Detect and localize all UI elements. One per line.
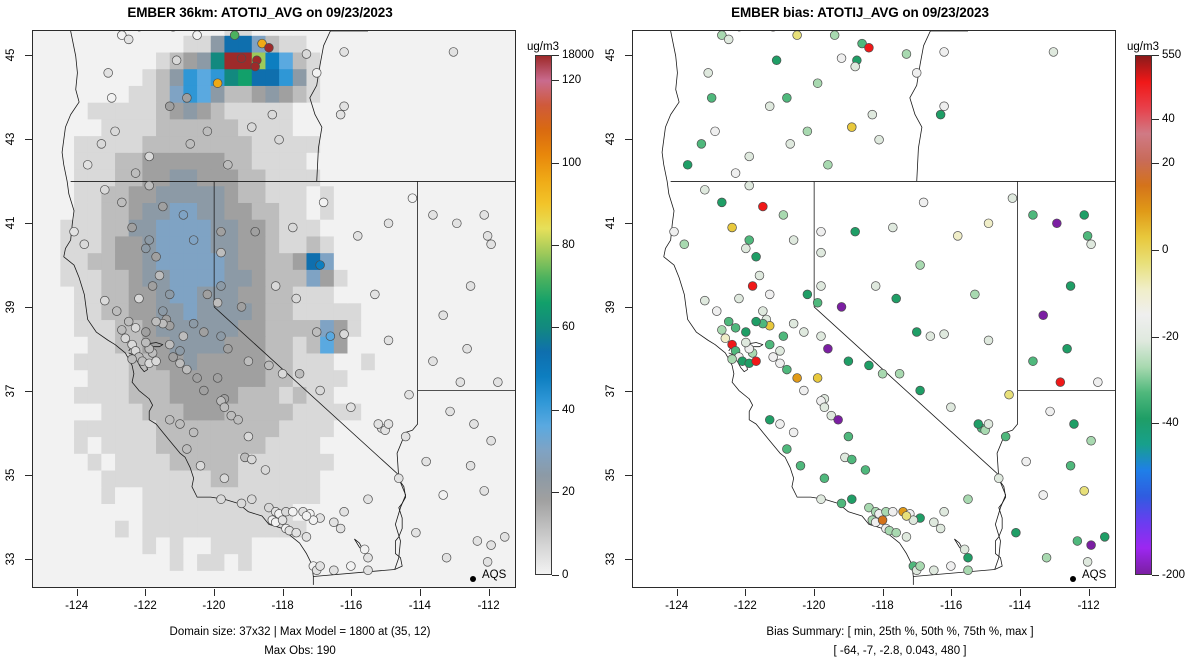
aqs-site-marker[interactable] xyxy=(295,369,304,378)
aqs-bias-marker[interactable] xyxy=(865,361,874,370)
aqs-bias-marker[interactable] xyxy=(1008,194,1017,203)
aqs-bias-marker[interactable] xyxy=(878,369,887,378)
aqs-bias-marker[interactable] xyxy=(919,198,928,207)
aqs-site-marker[interactable] xyxy=(364,553,373,562)
aqs-site-marker[interactable] xyxy=(336,524,345,533)
aqs-site-marker[interactable] xyxy=(104,68,113,77)
aqs-bias-markers[interactable] xyxy=(670,31,1109,575)
aqs-site-marker[interactable] xyxy=(80,240,89,249)
aqs-site-marker[interactable] xyxy=(152,317,161,326)
aqs-site-marker[interactable] xyxy=(463,344,472,353)
aqs-bias-marker[interactable] xyxy=(1056,378,1065,387)
right-plot-frame[interactable] xyxy=(632,30,1116,588)
aqs-bias-marker[interactable] xyxy=(960,545,969,554)
aqs-bias-marker[interactable] xyxy=(824,344,833,353)
aqs-bias-marker[interactable] xyxy=(1029,357,1038,366)
aqs-site-marker[interactable] xyxy=(237,54,246,63)
aqs-bias-marker[interactable] xyxy=(817,282,826,291)
aqs-bias-marker[interactable] xyxy=(813,298,822,307)
aqs-bias-marker[interactable] xyxy=(847,495,856,504)
aqs-bias-marker[interactable] xyxy=(1052,219,1061,228)
aqs-bias-marker[interactable] xyxy=(728,355,737,364)
aqs-bias-marker[interactable] xyxy=(861,466,870,475)
aqs-bias-marker[interactable] xyxy=(817,332,826,341)
left-plot-frame[interactable] xyxy=(32,30,516,588)
aqs-site-marker[interactable] xyxy=(186,140,195,149)
aqs-bias-marker[interactable] xyxy=(741,328,750,337)
aqs-bias-marker[interactable] xyxy=(1001,432,1010,441)
aqs-site-marker[interactable] xyxy=(217,227,226,236)
aqs-site-marker[interactable] xyxy=(340,330,349,339)
aqs-site-marker[interactable] xyxy=(412,528,421,537)
aqs-site-marker[interactable] xyxy=(193,31,202,40)
aqs-bias-marker[interactable] xyxy=(1080,486,1089,495)
aqs-site-marker[interactable] xyxy=(473,537,482,546)
aqs-bias-marker[interactable] xyxy=(820,403,829,412)
aqs-bias-marker[interactable] xyxy=(813,374,822,383)
aqs-bias-marker[interactable] xyxy=(834,415,843,424)
aqs-site-marker[interactable] xyxy=(148,282,157,291)
aqs-site-marker[interactable] xyxy=(189,319,198,328)
aqs-site-marker[interactable] xyxy=(224,160,233,169)
aqs-site-marker[interactable] xyxy=(165,290,174,299)
aqs-bias-marker[interactable] xyxy=(895,369,904,378)
aqs-bias-marker[interactable] xyxy=(772,56,781,65)
aqs-bias-marker[interactable] xyxy=(892,528,901,537)
aqs-bias-marker[interactable] xyxy=(796,461,805,470)
aqs-site-marker[interactable] xyxy=(182,93,191,102)
aqs-bias-marker[interactable] xyxy=(707,93,716,102)
aqs-site-marker[interactable] xyxy=(117,326,126,335)
aqs-site-marker[interactable] xyxy=(316,386,325,395)
aqs-site-marker[interactable] xyxy=(169,353,178,362)
aqs-bias-marker[interactable] xyxy=(984,219,993,228)
aqs-bias-marker[interactable] xyxy=(1093,378,1102,387)
aqs-bias-marker[interactable] xyxy=(800,386,809,395)
aqs-site-marker[interactable] xyxy=(384,219,393,228)
aqs-site-marker[interactable] xyxy=(131,169,140,178)
aqs-bias-marker[interactable] xyxy=(964,495,973,504)
aqs-site-marker[interactable] xyxy=(449,48,458,57)
aqs-site-marker[interactable] xyxy=(247,123,256,132)
aqs-bias-marker[interactable] xyxy=(758,307,767,316)
aqs-bias-marker[interactable] xyxy=(837,54,846,63)
aqs-site-marker[interactable] xyxy=(152,252,161,261)
aqs-bias-marker[interactable] xyxy=(940,102,949,111)
aqs-bias-marker[interactable] xyxy=(1029,211,1038,220)
aqs-bias-marker[interactable] xyxy=(755,271,764,280)
aqs-bias-marker[interactable] xyxy=(916,261,925,270)
aqs-site-marker[interactable] xyxy=(200,328,209,337)
aqs-site-marker[interactable] xyxy=(135,294,144,303)
aqs-site-marker[interactable] xyxy=(145,181,154,190)
aqs-site-marker[interactable] xyxy=(374,420,383,429)
aqs-bias-marker[interactable] xyxy=(912,328,921,337)
aqs-bias-marker[interactable] xyxy=(868,110,877,119)
aqs-bias-marker[interactable] xyxy=(721,334,730,343)
aqs-bias-marker[interactable] xyxy=(711,127,720,136)
aqs-site-marker[interactable] xyxy=(165,340,174,349)
aqs-bias-marker[interactable] xyxy=(697,140,706,149)
aqs-bias-marker[interactable] xyxy=(964,553,973,562)
aqs-bias-marker[interactable] xyxy=(820,474,829,483)
aqs-site-marker[interactable] xyxy=(384,420,393,429)
aqs-site-marker[interactable] xyxy=(271,282,280,291)
aqs-site-marker[interactable] xyxy=(172,56,181,65)
aqs-site-marker[interactable] xyxy=(128,355,137,364)
aqs-bias-marker[interactable] xyxy=(994,474,1003,483)
aqs-bias-marker[interactable] xyxy=(817,495,826,504)
aqs-bias-marker[interactable] xyxy=(936,110,945,119)
aqs-site-marker[interactable] xyxy=(316,261,325,270)
aqs-site-marker[interactable] xyxy=(158,307,167,316)
aqs-bias-marker[interactable] xyxy=(1083,558,1092,567)
aqs-site-marker[interactable] xyxy=(268,110,277,119)
aqs-bias-marker[interactable] xyxy=(735,294,744,303)
aqs-bias-marker[interactable] xyxy=(765,415,774,424)
aqs-site-marker[interactable] xyxy=(340,48,349,57)
aqs-bias-marker[interactable] xyxy=(1080,211,1089,220)
aqs-site-marker[interactable] xyxy=(244,357,253,366)
aqs-bias-marker[interactable] xyxy=(892,294,901,303)
aqs-site-marker[interactable] xyxy=(244,432,253,441)
aqs-site-marker[interactable] xyxy=(364,566,373,575)
aqs-bias-marker[interactable] xyxy=(946,403,955,412)
aqs-site-marker[interactable] xyxy=(493,378,502,387)
aqs-site-marker[interactable] xyxy=(470,420,479,429)
aqs-bias-marker[interactable] xyxy=(875,135,884,144)
aqs-site-marker[interactable] xyxy=(405,390,414,399)
aqs-bias-marker[interactable] xyxy=(782,445,791,454)
aqs-bias-marker[interactable] xyxy=(1073,537,1082,546)
aqs-site-marker[interactable] xyxy=(217,495,226,504)
aqs-site-marker[interactable] xyxy=(422,457,431,466)
aqs-site-marker[interactable] xyxy=(176,359,185,368)
aqs-site-marker[interactable] xyxy=(394,474,403,483)
aqs-site-marker[interactable] xyxy=(117,198,126,207)
aqs-bias-marker[interactable] xyxy=(752,357,761,366)
aqs-bias-marker[interactable] xyxy=(800,328,809,337)
aqs-bias-marker[interactable] xyxy=(680,240,689,249)
aqs-bias-marker[interactable] xyxy=(779,211,788,220)
aqs-site-marker[interactable] xyxy=(155,271,164,280)
aqs-bias-marker[interactable] xyxy=(1063,344,1072,353)
aqs-bias-marker[interactable] xyxy=(724,317,733,326)
aqs-site-marker[interactable] xyxy=(179,211,188,220)
aqs-bias-marker[interactable] xyxy=(916,562,925,571)
aqs-bias-marker[interactable] xyxy=(1066,461,1075,470)
aqs-bias-marker[interactable] xyxy=(837,303,846,312)
aqs-bias-marker[interactable] xyxy=(871,282,880,291)
aqs-bias-marker[interactable] xyxy=(782,365,791,374)
aqs-bias-marker[interactable] xyxy=(844,432,853,441)
aqs-site-marker[interactable] xyxy=(145,152,154,161)
aqs-bias-marker[interactable] xyxy=(752,317,761,326)
aqs-site-marker[interactable] xyxy=(487,240,496,249)
aqs-bias-marker[interactable] xyxy=(1087,240,1096,249)
aqs-site-marker[interactable] xyxy=(408,194,417,203)
aqs-bias-marker[interactable] xyxy=(700,296,709,305)
aqs-site-marker[interactable] xyxy=(302,512,311,521)
aqs-bias-marker[interactable] xyxy=(929,566,938,575)
aqs-bias-marker[interactable] xyxy=(779,332,788,341)
aqs-bias-marker[interactable] xyxy=(741,338,750,347)
aqs-site-marker[interactable] xyxy=(429,211,438,220)
aqs-bias-marker[interactable] xyxy=(683,160,692,169)
aqs-bias-marker[interactable] xyxy=(731,169,740,178)
aqs-site-marker[interactable] xyxy=(107,93,116,102)
aqs-bias-marker[interactable] xyxy=(946,562,955,571)
aqs-site-marker[interactable] xyxy=(278,369,287,378)
aqs-site-marker[interactable] xyxy=(121,334,130,343)
aqs-site-marker[interactable] xyxy=(97,140,106,149)
aqs-bias-marker[interactable] xyxy=(916,386,925,395)
aqs-bias-marker[interactable] xyxy=(745,152,754,161)
aqs-bias-marker[interactable] xyxy=(793,374,802,383)
aqs-bias-marker[interactable] xyxy=(776,359,785,368)
aqs-site-marker[interactable] xyxy=(340,102,349,111)
aqs-site-marker[interactable] xyxy=(326,332,335,341)
aqs-bias-marker[interactable] xyxy=(704,68,713,77)
aqs-site-marker[interactable] xyxy=(370,290,379,299)
aqs-bias-marker[interactable] xyxy=(1100,532,1109,541)
aqs-site-marker[interactable] xyxy=(112,307,121,316)
aqs-site-marker[interactable] xyxy=(312,328,321,337)
aqs-site-marker[interactable] xyxy=(217,282,226,291)
aqs-site-marker[interactable] xyxy=(487,436,496,445)
aqs-site-marker[interactable] xyxy=(200,386,209,395)
aqs-bias-marker[interactable] xyxy=(700,185,709,194)
aqs-site-marker[interactable] xyxy=(176,420,185,429)
aqs-site-marker[interactable] xyxy=(439,491,448,500)
aqs-bias-marker[interactable] xyxy=(1005,390,1014,399)
aqs-bias-marker[interactable] xyxy=(776,420,785,429)
aqs-site-marker[interactable] xyxy=(247,455,256,464)
aqs-bias-marker[interactable] xyxy=(830,31,839,40)
aqs-site-marker[interactable] xyxy=(176,346,185,355)
aqs-bias-marker[interactable] xyxy=(748,282,757,291)
aqs-site-marker[interactable] xyxy=(165,415,174,424)
aqs-site-marker[interactable] xyxy=(141,328,150,337)
model-map[interactable] xyxy=(33,31,515,587)
aqs-site-marker[interactable] xyxy=(213,374,222,383)
aqs-bias-marker[interactable] xyxy=(782,93,791,102)
aqs-site-marker[interactable] xyxy=(234,415,243,424)
aqs-site-marker[interactable] xyxy=(466,461,475,470)
aqs-site-marker[interactable] xyxy=(346,403,355,412)
aqs-bias-marker[interactable] xyxy=(847,123,856,132)
aqs-bias-marker[interactable] xyxy=(765,340,774,349)
aqs-site-marker[interactable] xyxy=(213,298,222,307)
aqs-site-marker[interactable] xyxy=(336,110,345,119)
aqs-bias-marker[interactable] xyxy=(1049,48,1058,57)
aqs-site-marker[interactable] xyxy=(128,223,137,232)
aqs-bias-marker[interactable] xyxy=(1070,420,1079,429)
aqs-bias-marker[interactable] xyxy=(844,357,853,366)
aqs-bias-marker[interactable] xyxy=(1083,231,1092,240)
aqs-bias-marker[interactable] xyxy=(902,512,911,521)
aqs-bias-marker[interactable] xyxy=(817,227,826,236)
aqs-site-marker[interactable] xyxy=(100,296,109,305)
aqs-bias-marker[interactable] xyxy=(902,532,911,541)
aqs-site-marker[interactable] xyxy=(217,248,226,257)
aqs-bias-marker[interactable] xyxy=(970,290,979,299)
aqs-site-marker[interactable] xyxy=(141,244,150,253)
aqs-bias-marker[interactable] xyxy=(712,307,721,316)
aqs-bias-marker[interactable] xyxy=(769,353,778,362)
aqs-site-marker[interactable] xyxy=(237,499,246,508)
aqs-site-marker[interactable] xyxy=(319,198,328,207)
aqs-bias-marker[interactable] xyxy=(817,248,826,257)
aqs-site-marker[interactable] xyxy=(152,357,161,366)
aqs-bias-marker[interactable] xyxy=(888,507,897,516)
aqs-site-marker[interactable] xyxy=(265,361,274,370)
aqs-bias-marker[interactable] xyxy=(940,330,949,339)
aqs-site-marker[interactable] xyxy=(100,185,109,194)
aqs-site-marker[interactable] xyxy=(237,303,246,312)
aqs-bias-marker[interactable] xyxy=(803,127,812,136)
aqs-bias-marker[interactable] xyxy=(728,223,737,232)
aqs-site-marker[interactable] xyxy=(217,332,226,341)
aqs-bias-marker[interactable] xyxy=(1022,457,1031,466)
aqs-bias-marker[interactable] xyxy=(765,290,774,299)
aqs-site-marker[interactable] xyxy=(429,357,438,366)
aqs-bias-marker[interactable] xyxy=(758,202,767,211)
aqs-bias-marker[interactable] xyxy=(776,346,785,355)
aqs-bias-marker[interactable] xyxy=(837,499,846,508)
aqs-site-marker[interactable] xyxy=(111,127,120,136)
aqs-site-marker[interactable] xyxy=(189,428,198,437)
aqs-bias-marker[interactable] xyxy=(745,236,754,245)
aqs-bias-marker[interactable] xyxy=(717,198,726,207)
aqs-site-marker[interactable] xyxy=(124,317,133,326)
aqs-site-marker[interactable] xyxy=(182,365,191,374)
aqs-site-marker[interactable] xyxy=(480,486,489,495)
aqs-bias-marker[interactable] xyxy=(984,420,993,429)
aqs-site-marker[interactable] xyxy=(83,160,92,169)
aqs-site-marker[interactable] xyxy=(203,290,212,299)
aqs-site-marker[interactable] xyxy=(145,236,154,245)
aqs-site-marker[interactable] xyxy=(141,338,150,347)
aqs-site-marker[interactable] xyxy=(275,135,284,144)
aqs-site-marker[interactable] xyxy=(251,227,260,236)
aqs-site-marker[interactable] xyxy=(401,432,410,441)
aqs-bias-marker[interactable] xyxy=(888,223,897,232)
aqs-bias-marker[interactable] xyxy=(1087,541,1096,550)
aqs-site-marker[interactable] xyxy=(278,516,287,525)
aqs-bias-marker[interactable] xyxy=(940,507,949,516)
aqs-site-marker[interactable] xyxy=(220,403,229,412)
aqs-site-marker[interactable] xyxy=(302,50,311,59)
aqs-bias-marker[interactable] xyxy=(1066,282,1075,291)
aqs-site-marker[interactable] xyxy=(230,31,239,40)
bias-map[interactable] xyxy=(633,31,1115,587)
aqs-bias-marker[interactable] xyxy=(670,227,679,236)
aqs-bias-marker[interactable] xyxy=(1087,436,1096,445)
aqs-bias-marker[interactable] xyxy=(926,332,935,341)
aqs-bias-marker[interactable] xyxy=(851,62,860,71)
aqs-bias-marker[interactable] xyxy=(813,79,822,88)
aqs-site-marker[interactable] xyxy=(189,236,198,245)
aqs-bias-marker[interactable] xyxy=(929,518,938,527)
aqs-site-marker[interactable] xyxy=(446,407,455,416)
aqs-site-marker[interactable] xyxy=(312,68,321,77)
aqs-site-marker[interactable] xyxy=(292,294,301,303)
aqs-site-marker[interactable] xyxy=(439,311,448,320)
aqs-site-marker[interactable] xyxy=(483,558,492,567)
aqs-site-marker[interactable] xyxy=(487,541,496,550)
aqs-site-marker[interactable] xyxy=(193,374,202,383)
aqs-bias-marker[interactable] xyxy=(984,336,993,345)
aqs-site-marker[interactable] xyxy=(158,202,167,211)
aqs-site-marker[interactable] xyxy=(220,474,229,483)
aqs-bias-marker[interactable] xyxy=(789,319,798,328)
aqs-bias-marker[interactable] xyxy=(964,566,973,575)
aqs-site-marker[interactable] xyxy=(452,219,461,228)
aqs-bias-marker[interactable] xyxy=(741,244,750,253)
aqs-site-marker[interactable] xyxy=(480,211,489,220)
aqs-site-marker[interactable] xyxy=(364,495,373,504)
aqs-site-marker[interactable] xyxy=(500,532,509,541)
aqs-bias-marker[interactable] xyxy=(912,68,921,77)
aqs-site-marker[interactable] xyxy=(251,62,260,71)
aqs-bias-marker[interactable] xyxy=(974,420,983,429)
aqs-site-marker[interactable] xyxy=(179,332,188,341)
aqs-bias-marker[interactable] xyxy=(789,236,798,245)
aqs-bias-marker[interactable] xyxy=(824,160,833,169)
aqs-bias-marker[interactable] xyxy=(717,326,726,335)
aqs-site-marker[interactable] xyxy=(288,223,297,232)
aqs-site-marker[interactable] xyxy=(456,378,465,387)
aqs-bias-marker[interactable] xyxy=(1046,407,1055,416)
aqs-site-marker[interactable] xyxy=(131,323,140,332)
aqs-site-marker[interactable] xyxy=(302,532,311,541)
aqs-bias-marker[interactable] xyxy=(902,50,911,59)
aqs-bias-marker[interactable] xyxy=(940,48,949,57)
aqs-site-marker[interactable] xyxy=(203,127,212,136)
aqs-bias-marker[interactable] xyxy=(789,428,798,437)
aqs-site-marker[interactable] xyxy=(384,336,393,345)
aqs-bias-marker[interactable] xyxy=(786,140,795,149)
aqs-bias-marker[interactable] xyxy=(847,455,856,464)
aqs-bias-marker[interactable] xyxy=(936,524,945,533)
aqs-site-marker[interactable] xyxy=(442,553,451,562)
aqs-bias-marker[interactable] xyxy=(724,35,733,44)
aqs-bias-marker[interactable] xyxy=(731,323,740,332)
aqs-bias-marker[interactable] xyxy=(745,181,754,190)
aqs-site-marker[interactable] xyxy=(292,528,301,537)
aqs-site-marker[interactable] xyxy=(346,562,355,571)
aqs-bias-marker[interactable] xyxy=(752,252,761,261)
aqs-bias-marker[interactable] xyxy=(793,31,802,40)
aqs-bias-marker[interactable] xyxy=(765,102,774,111)
aqs-site-marker[interactable] xyxy=(182,445,191,454)
aqs-site-marker[interactable] xyxy=(196,461,205,470)
aqs-site-marker[interactable] xyxy=(466,282,475,291)
aqs-bias-marker[interactable] xyxy=(1012,528,1021,537)
aqs-bias-marker[interactable] xyxy=(878,516,887,525)
aqs-site-marker[interactable] xyxy=(265,43,274,52)
aqs-site-marker[interactable] xyxy=(316,562,325,571)
aqs-site-marker[interactable] xyxy=(483,231,492,240)
aqs-bias-marker[interactable] xyxy=(803,290,812,299)
aqs-bias-marker[interactable] xyxy=(1039,311,1048,320)
aqs-site-marker[interactable] xyxy=(340,507,349,516)
aqs-site-marker[interactable] xyxy=(165,102,174,111)
aqs-site-marker[interactable] xyxy=(213,79,222,88)
aqs-site-marker[interactable] xyxy=(247,495,256,504)
aqs-site-marker[interactable] xyxy=(288,507,297,516)
